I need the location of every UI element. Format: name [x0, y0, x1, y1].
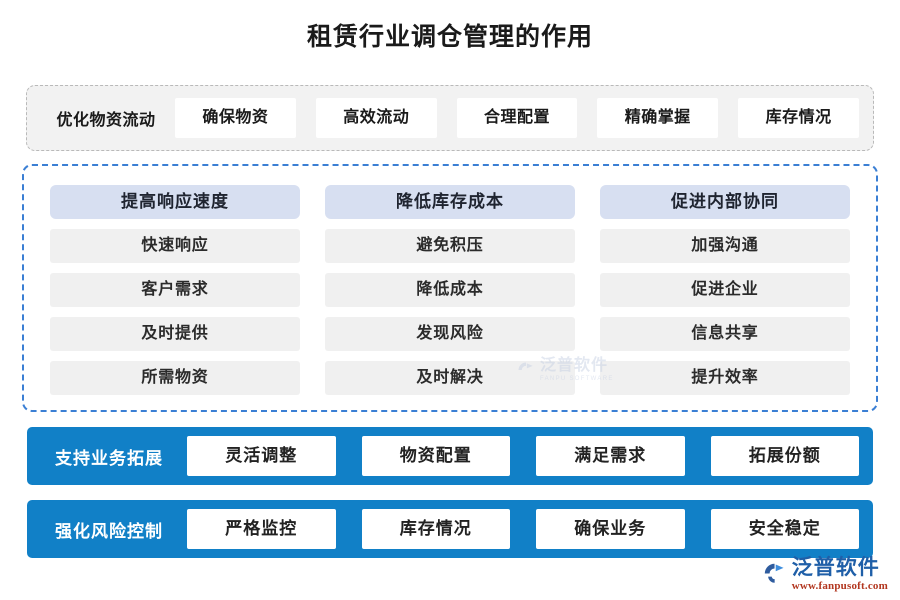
section-strengthen-risk-control: 强化风险控制 严格监控 库存情况 确保业务 安全稳定	[27, 500, 873, 558]
column-header[interactable]: 降低库存成本	[325, 185, 575, 219]
bar-chip[interactable]: 物资配置	[362, 436, 511, 476]
column-item[interactable]: 避免积压	[325, 229, 575, 263]
column-header[interactable]: 促进内部协同	[600, 185, 850, 219]
optimize-chip[interactable]: 高效流动	[316, 98, 437, 138]
column-item[interactable]: 快速响应	[50, 229, 300, 263]
section-optimize-material-flow: 优化物资流动 确保物资 高效流动 合理配置 精确掌握 库存情况	[26, 85, 874, 151]
optimize-chip[interactable]: 确保物资	[175, 98, 296, 138]
page-title: 租赁行业调仓管理的作用	[0, 0, 900, 52]
column-item[interactable]: 及时提供	[50, 317, 300, 351]
column-item[interactable]: 提升效率	[600, 361, 850, 395]
section-bar-chip-list: 严格监控 库存情况 确保业务 安全稳定	[179, 509, 859, 549]
section-optimize-label: 优化物资流动	[37, 106, 175, 130]
bar-chip[interactable]: 满足需求	[536, 436, 685, 476]
column-item[interactable]: 加强沟通	[600, 229, 850, 263]
column-response-speed: 提高响应速度 快速响应 客户需求 及时提供 所需物资	[50, 185, 300, 410]
bar-chip[interactable]: 拓展份额	[711, 436, 860, 476]
section-bar-label: 支持业务拓展	[39, 444, 179, 469]
optimize-chip[interactable]: 库存情况	[738, 98, 859, 138]
section-optimize-chip-list: 确保物资 高效流动 合理配置 精确掌握 库存情况	[175, 98, 863, 138]
corner-logo-text: 泛普软件 www.fanpusoft.com	[792, 557, 888, 592]
section-bar-label: 强化风险控制	[39, 517, 179, 542]
optimize-chip[interactable]: 合理配置	[457, 98, 578, 138]
column-item[interactable]: 发现风险	[325, 317, 575, 351]
column-header[interactable]: 提高响应速度	[50, 185, 300, 219]
bar-chip[interactable]: 库存情况	[362, 509, 511, 549]
bar-chip[interactable]: 确保业务	[536, 509, 685, 549]
column-item[interactable]: 信息共享	[600, 317, 850, 351]
columns-wrapper: 提高响应速度 快速响应 客户需求 及时提供 所需物资 降低库存成本 避免积压 降…	[24, 166, 876, 410]
bar-chip[interactable]: 严格监控	[187, 509, 336, 549]
section-three-columns: 提高响应速度 快速响应 客户需求 及时提供 所需物资 降低库存成本 避免积压 降…	[22, 164, 878, 412]
bar-chip[interactable]: 灵活调整	[187, 436, 336, 476]
column-item[interactable]: 及时解决	[325, 361, 575, 395]
bar-chip[interactable]: 安全稳定	[711, 509, 860, 549]
section-bar-chip-list: 灵活调整 物资配置 满足需求 拓展份额	[179, 436, 859, 476]
corner-logo-cn: 泛普软件	[792, 557, 888, 578]
column-item[interactable]: 降低成本	[325, 273, 575, 307]
corner-logo-url: www.fanpusoft.com	[792, 581, 888, 592]
fanpu-logo-icon	[761, 560, 787, 586]
column-item[interactable]: 客户需求	[50, 273, 300, 307]
column-inventory-cost: 降低库存成本 避免积压 降低成本 发现风险 及时解决	[325, 185, 575, 410]
section-support-business-expansion: 支持业务拓展 灵活调整 物资配置 满足需求 拓展份额	[27, 427, 873, 485]
column-item[interactable]: 所需物资	[50, 361, 300, 395]
column-internal-collaboration: 促进内部协同 加强沟通 促进企业 信息共享 提升效率	[600, 185, 850, 410]
column-item[interactable]: 促进企业	[600, 273, 850, 307]
corner-logo-watermark: 泛普软件 www.fanpusoft.com	[761, 557, 888, 592]
optimize-chip[interactable]: 精确掌握	[597, 98, 718, 138]
